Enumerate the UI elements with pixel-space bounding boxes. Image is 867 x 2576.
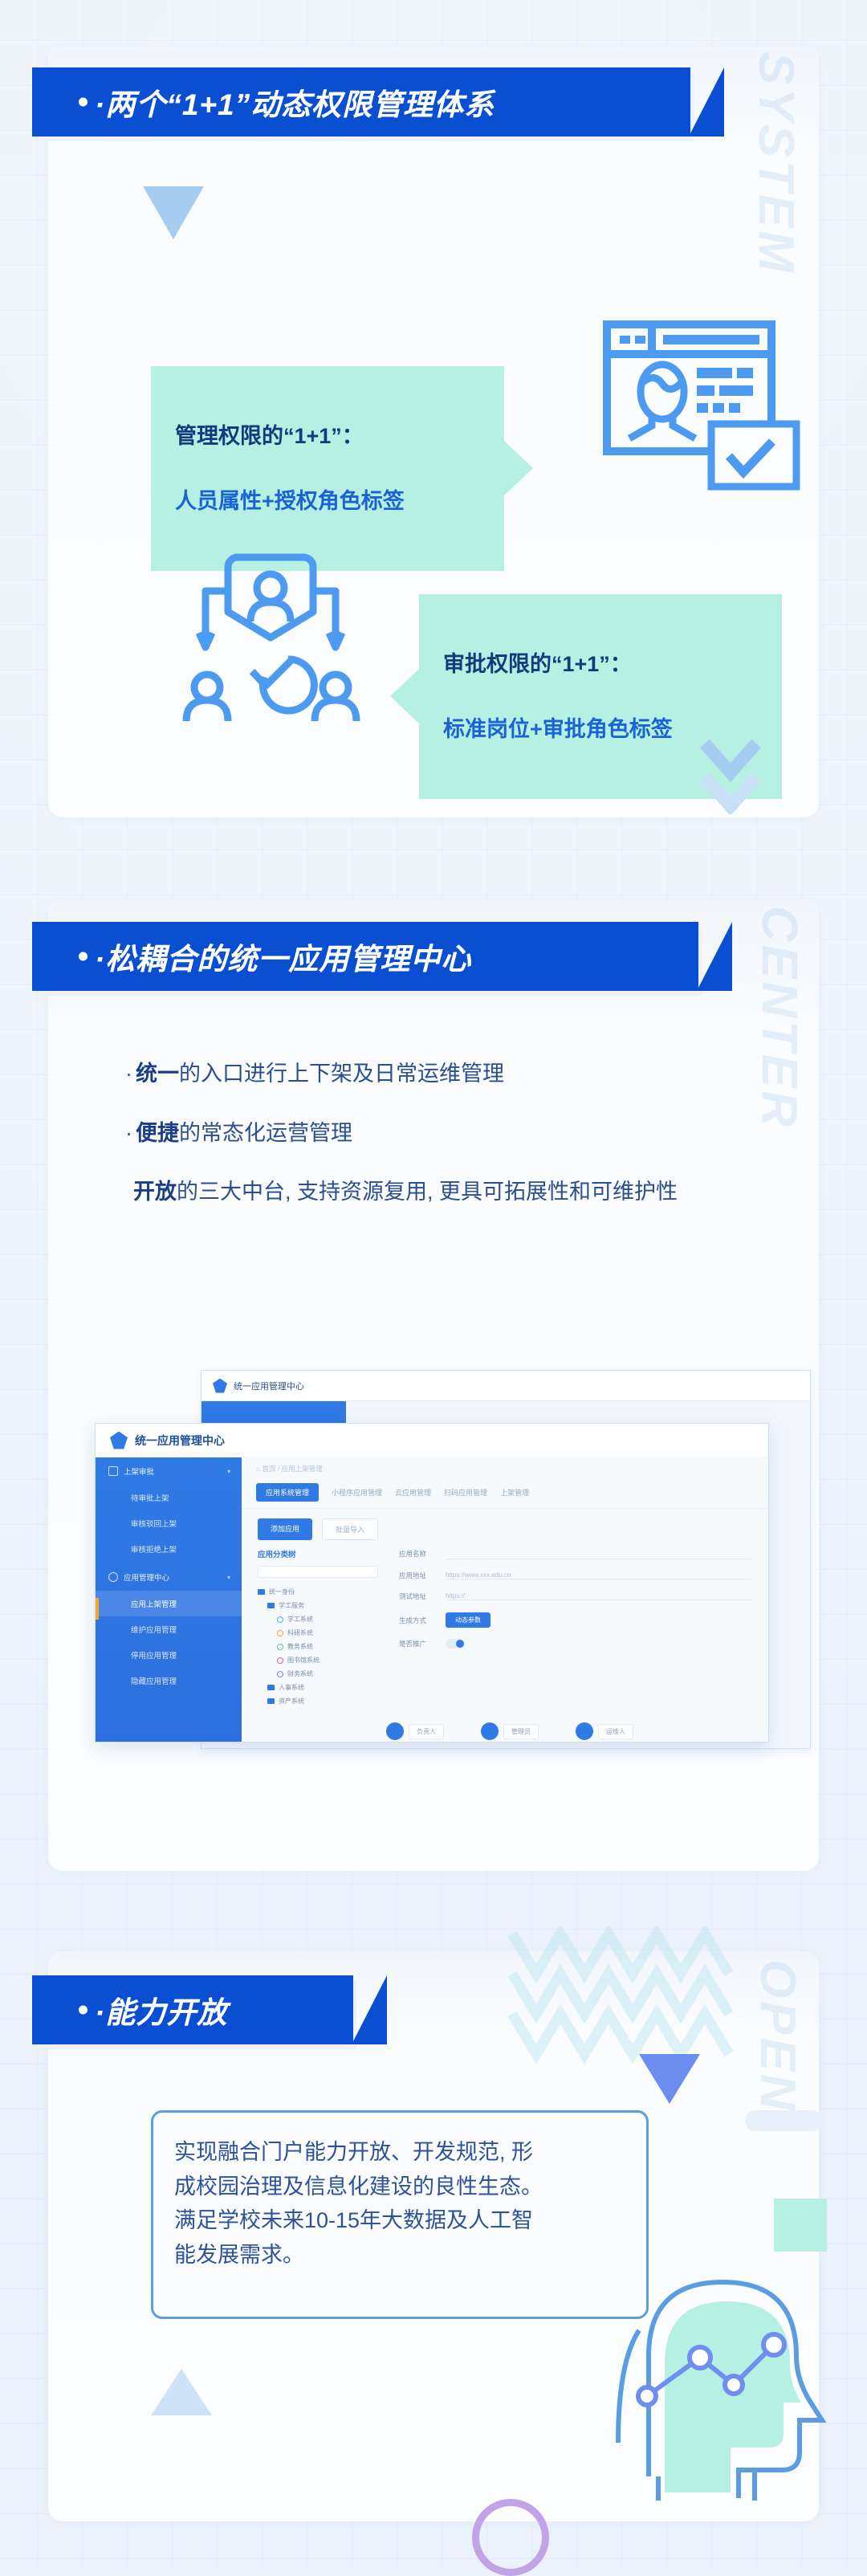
add-app-button[interactable]: 添加应用 bbox=[258, 1518, 312, 1540]
bullet-strong: 便捷 bbox=[136, 1121, 179, 1145]
bullet-strong: 开放 bbox=[133, 1180, 177, 1204]
tree-node-label: 财务系统 bbox=[287, 1669, 313, 1678]
avatar-item[interactable]: 负责人 bbox=[386, 1722, 444, 1740]
form-row: 应用地址 https://www.xxx.edu.cn bbox=[399, 1571, 751, 1580]
mockup-tabbar: 应用系统管理 小程序应用管理 云应用管理 扫码应用管理 上架管理 bbox=[242, 1478, 768, 1509]
tab-scan-app[interactable]: 扫码应用管理 bbox=[444, 1487, 487, 1498]
triangle-down-decoration bbox=[143, 186, 204, 239]
ribbon-bullet-dot bbox=[79, 98, 88, 107]
avatar-item[interactable]: 管理员 bbox=[481, 1722, 539, 1740]
form-label: 应用名称 bbox=[399, 1549, 438, 1559]
section-open-card: OPEN ·能力开放 实现融合门户能力开放、开发规范, 形 成校园治理及信息化建… bbox=[48, 1951, 819, 2521]
form-input[interactable]: https:// bbox=[446, 1592, 751, 1600]
sidebar-item-declined[interactable]: 审核拒绝上架 bbox=[96, 1536, 242, 1562]
tab-listing[interactable]: 上架管理 bbox=[500, 1487, 529, 1498]
sidebar-item-pending[interactable]: 待审批上架 bbox=[96, 1485, 242, 1510]
avatar-label: 运维人 bbox=[598, 1724, 633, 1739]
bullet-strong: 统一 bbox=[136, 1062, 179, 1086]
avatar-item[interactable]: 运维人 bbox=[576, 1722, 633, 1740]
sidebar-item-rejected[interactable]: 审核驳回上架 bbox=[96, 1510, 242, 1536]
manage-permission-line2: 人员属性+授权角色标签 bbox=[175, 485, 480, 518]
section-center-title: ·松耦合的统一应用管理中心 bbox=[32, 935, 471, 978]
bullet-rest: 的入口进行上下架及日常运维管理 bbox=[179, 1062, 504, 1086]
tree-node[interactable]: 财务系统 bbox=[258, 1667, 378, 1681]
folder-icon bbox=[267, 1698, 275, 1704]
form-input[interactable]: https://www.xxx.edu.cn bbox=[446, 1571, 751, 1579]
avatar bbox=[481, 1722, 499, 1740]
circle-icon bbox=[277, 1644, 283, 1650]
form-input[interactable] bbox=[446, 1548, 751, 1559]
tree-node[interactable]: 学工服务 bbox=[258, 1599, 378, 1612]
sidebar-item-group-appcenter[interactable]: 应用管理中心 ▾ bbox=[96, 1562, 242, 1591]
sidebar-item-group-approval[interactable]: 上架审批 ▾ bbox=[96, 1457, 242, 1485]
mockup-form-pane: 应用名称 应用地址 https://www.xxx.edu.cn 测试地址 ht… bbox=[399, 1548, 768, 1708]
grid-icon bbox=[108, 1572, 118, 1582]
form-label: 测试地址 bbox=[399, 1592, 438, 1601]
tree-node-label: 教务系统 bbox=[287, 1642, 313, 1651]
sidebar-item-app-maintain[interactable]: 维护应用管理 bbox=[96, 1616, 242, 1642]
tree-node-label: 科研系统 bbox=[287, 1628, 313, 1637]
ribbon-bullet-dot bbox=[79, 2006, 88, 2015]
form-label: 生成方式 bbox=[399, 1616, 438, 1625]
mockup-content: ⌂ 首页 / 应用上架管理 应用系统管理 小程序应用管理 云应用管理 扫码应用管… bbox=[242, 1457, 768, 1742]
avatar bbox=[386, 1722, 404, 1740]
watermark-system: SYSTEM bbox=[747, 51, 804, 275]
ribbon-bullet-dot bbox=[79, 952, 88, 961]
toggle-knob bbox=[456, 1640, 464, 1648]
tree-node[interactable]: 教务系统 bbox=[258, 1640, 378, 1653]
tree-node-label: 人事系统 bbox=[279, 1683, 304, 1692]
tree-node[interactable]: 统一身份 bbox=[258, 1585, 378, 1599]
tree-node[interactable]: 科研系统 bbox=[258, 1626, 378, 1640]
section-center-card: CENTER ·松耦合的统一应用管理中心 ·统一的入口进行上下架及日常运维管理 … bbox=[48, 899, 819, 1871]
tab-miniprogram[interactable]: 小程序应用管理 bbox=[332, 1487, 382, 1498]
sidebar-item-app-hidden[interactable]: 隐藏应用管理 bbox=[96, 1668, 242, 1694]
center-bullet-list: ·统一的入口进行上下架及日常运维管理 ·便捷的常态化运营管理 开放的三大中台, … bbox=[125, 1057, 767, 1234]
section-center-ribbon: ·松耦合的统一应用管理中心 bbox=[32, 922, 698, 991]
bullet-item: ·统一的入口进行上下架及日常运维管理 bbox=[125, 1057, 767, 1092]
mockup-avatar-row: 负责人 管理员 运维人 bbox=[242, 1708, 768, 1740]
triangle-down-decoration bbox=[639, 2054, 700, 2104]
folder-icon bbox=[267, 1685, 275, 1690]
form-row: 生成方式 动态参数 bbox=[399, 1612, 751, 1628]
approval-flow-icon bbox=[175, 535, 384, 736]
tree-node[interactable]: 人事系统 bbox=[258, 1681, 378, 1694]
bullet-rest: 的常态化运营管理 bbox=[179, 1121, 352, 1145]
bullet-mark: · bbox=[125, 1121, 132, 1145]
tree-node[interactable]: 图书馆系统 bbox=[258, 1653, 378, 1667]
mockup-sidebar: 上架审批 ▾ 待审批上架 审核驳回上架 审核拒绝上架 应用管理中心 ▾ 应用上架… bbox=[96, 1457, 242, 1742]
tree-node[interactable]: 资产系统 bbox=[258, 1694, 378, 1708]
form-row: 是否推广 bbox=[399, 1639, 751, 1649]
mint-bar-decoration bbox=[745, 2110, 822, 2131]
tree-node-label: 学工服务 bbox=[279, 1601, 304, 1610]
circle-icon bbox=[277, 1657, 283, 1664]
folder-icon bbox=[258, 1589, 265, 1595]
bullet-mark: · bbox=[125, 1062, 132, 1086]
approval-permission-line1: 审批权限的“1+1”： bbox=[443, 648, 758, 681]
avatar-label: 负责人 bbox=[409, 1724, 444, 1739]
section-system-title: ·两个“1+1”动态权限管理体系 bbox=[32, 80, 495, 124]
sidebar-item-label: 应用管理中心 bbox=[124, 1571, 169, 1583]
tree-node-label: 学工系统 bbox=[287, 1615, 313, 1624]
mockup-tree-pane: 应用分类树 统一身份 学工服务 学工系统 bbox=[258, 1548, 378, 1708]
double-chevron-down-icon bbox=[700, 737, 761, 814]
tree-search-input[interactable] bbox=[258, 1566, 378, 1578]
mockup-titlebar: 统一应用管理中心 bbox=[96, 1424, 768, 1457]
tab-app-system[interactable]: 应用系统管理 bbox=[256, 1483, 319, 1502]
mockup-body: 应用分类树 统一身份 学工服务 学工系统 bbox=[242, 1548, 768, 1708]
tree-node-label: 资产系统 bbox=[279, 1697, 304, 1706]
mockup-title: 统一应用管理中心 bbox=[135, 1433, 225, 1449]
bullet-item: ·便捷的常态化运营管理 bbox=[125, 1116, 767, 1151]
mockup-back-titlebar: 统一应用管理中心 bbox=[201, 1371, 810, 1401]
form-label: 是否推广 bbox=[399, 1639, 438, 1649]
folder-icon bbox=[267, 1603, 275, 1608]
zigzag-decoration bbox=[504, 1926, 745, 2086]
chevron-down-icon[interactable]: ▾ bbox=[227, 1468, 230, 1475]
user-profile-window-icon bbox=[584, 312, 801, 500]
brain-head-chart-icon bbox=[562, 2236, 851, 2501]
tree-node-label: 图书馆系统 bbox=[287, 1656, 320, 1665]
section-open-title: ·能力开放 bbox=[32, 1988, 227, 2032]
app-mockup-front-window[interactable]: 统一应用管理中心 上架审批 ▾ 待审批上架 审核驳回上架 审核拒绝上架 应用管理… bbox=[95, 1423, 769, 1742]
mockup-back-title: 统一应用管理中心 bbox=[234, 1380, 304, 1392]
triangle-up-decoration bbox=[151, 2369, 212, 2415]
tree-node[interactable]: 学工系统 bbox=[258, 1612, 378, 1626]
tree-node-label: 统一身份 bbox=[269, 1588, 295, 1596]
section-system-ribbon: ·两个“1+1”动态权限管理体系 bbox=[32, 67, 690, 137]
sidebar-active-indicator bbox=[96, 1598, 99, 1620]
circle-icon bbox=[277, 1671, 283, 1677]
sidebar-item-label: 上架审批 bbox=[124, 1465, 154, 1477]
sidebar-item-app-listing[interactable]: 应用上架管理 bbox=[96, 1591, 242, 1616]
avatar bbox=[576, 1722, 593, 1740]
form-row: 应用名称 bbox=[399, 1548, 751, 1559]
chevron-down-icon[interactable]: ▾ bbox=[227, 1574, 230, 1581]
tree-title: 应用分类树 bbox=[258, 1548, 378, 1559]
avatar-label: 管理员 bbox=[503, 1724, 539, 1739]
section-open-ribbon: ·能力开放 bbox=[32, 1975, 353, 2044]
sidebar-item-app-disabled[interactable]: 停用应用管理 bbox=[96, 1642, 242, 1668]
circle-icon bbox=[277, 1630, 283, 1636]
bullet-item: 开放的三大中台, 支持资源复用, 更具可拓展性和可维护性 bbox=[125, 1175, 767, 1210]
dynamic-param-button[interactable]: 动态参数 bbox=[446, 1612, 490, 1628]
bullet-rest: 的三大中台, 支持资源复用, 更具可拓展性和可维护性 bbox=[177, 1180, 678, 1204]
mockup-actionbar: 添加应用 批量导入 bbox=[242, 1509, 768, 1548]
batch-import-button[interactable]: 批量导入 bbox=[322, 1518, 378, 1540]
manage-permission-line1: 管理权限的“1+1”： bbox=[175, 420, 480, 453]
promote-toggle[interactable] bbox=[446, 1639, 465, 1649]
watermark-open: OPEN bbox=[749, 1959, 806, 2113]
mockup-breadcrumb: ⌂ 首页 / 应用上架管理 bbox=[242, 1457, 768, 1478]
form-row: 测试地址 https:// bbox=[399, 1592, 751, 1601]
section-system-card: SYSTEM ·两个“1+1”动态权限管理体系 bbox=[48, 47, 819, 817]
tab-cloud-app[interactable]: 云应用管理 bbox=[395, 1487, 431, 1498]
mockup-logo-icon bbox=[110, 1432, 128, 1449]
circle-icon bbox=[277, 1616, 283, 1623]
doc-icon bbox=[108, 1466, 118, 1476]
mockup-back-logo-icon bbox=[213, 1379, 227, 1393]
form-label: 应用地址 bbox=[399, 1571, 438, 1580]
purple-ring-decoration bbox=[472, 2499, 549, 2576]
